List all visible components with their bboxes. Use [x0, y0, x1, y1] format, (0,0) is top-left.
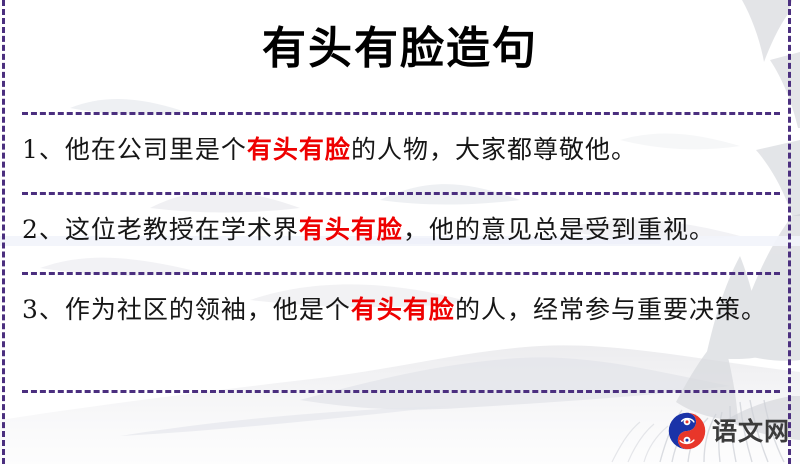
sentence-3-keyword: 有头有脸 [351, 295, 455, 324]
yuwen-circle-logo-icon [668, 412, 706, 450]
sentence-2-keyword: 有头有脸 [299, 215, 403, 244]
sentence-1-after: 的人物，大家都尊敬他。 [351, 135, 637, 164]
sentence-1-index: 1、 [22, 135, 65, 164]
sentence-1-keyword: 有头有脸 [247, 135, 351, 164]
sentence-2-before: 这位老教授在学术界 [65, 215, 299, 244]
divider-rule-3 [22, 272, 780, 275]
sentence-3-index: 3、 [22, 295, 65, 324]
example-sentence-3: 3、作为社区的领袖，他是个有头有脸的人，经常参与重要决策。 [22, 288, 778, 332]
divider-rule-4 [22, 390, 780, 393]
sentence-1-before: 他在公司里是个 [65, 135, 247, 164]
sentence-3-after: 的人，经常参与重要决策。 [455, 295, 767, 324]
example-sentence-2: 2、这位老教授在学术界有头有脸，他的意见总是受到重视。 [22, 208, 778, 252]
page-title: 有头有脸造句 [0, 18, 800, 80]
site-logo[interactable]: 语文网 [668, 412, 790, 450]
sentence-3-before: 作为社区的领袖，他是个 [65, 295, 351, 324]
sentence-2-index: 2、 [22, 215, 65, 244]
sentence-2-after: ，他的意见总是受到重视。 [403, 215, 715, 244]
divider-rule-2 [22, 192, 780, 195]
divider-rule-1 [22, 112, 780, 115]
example-sentence-1: 1、他在公司里是个有头有脸的人物，大家都尊敬他。 [22, 128, 778, 172]
logo-text: 语文网 [712, 419, 790, 444]
sentence-example-card: 有头有脸造句 1、他在公司里是个有头有脸的人物，大家都尊敬他。 2、这位老教授在… [0, 0, 800, 464]
